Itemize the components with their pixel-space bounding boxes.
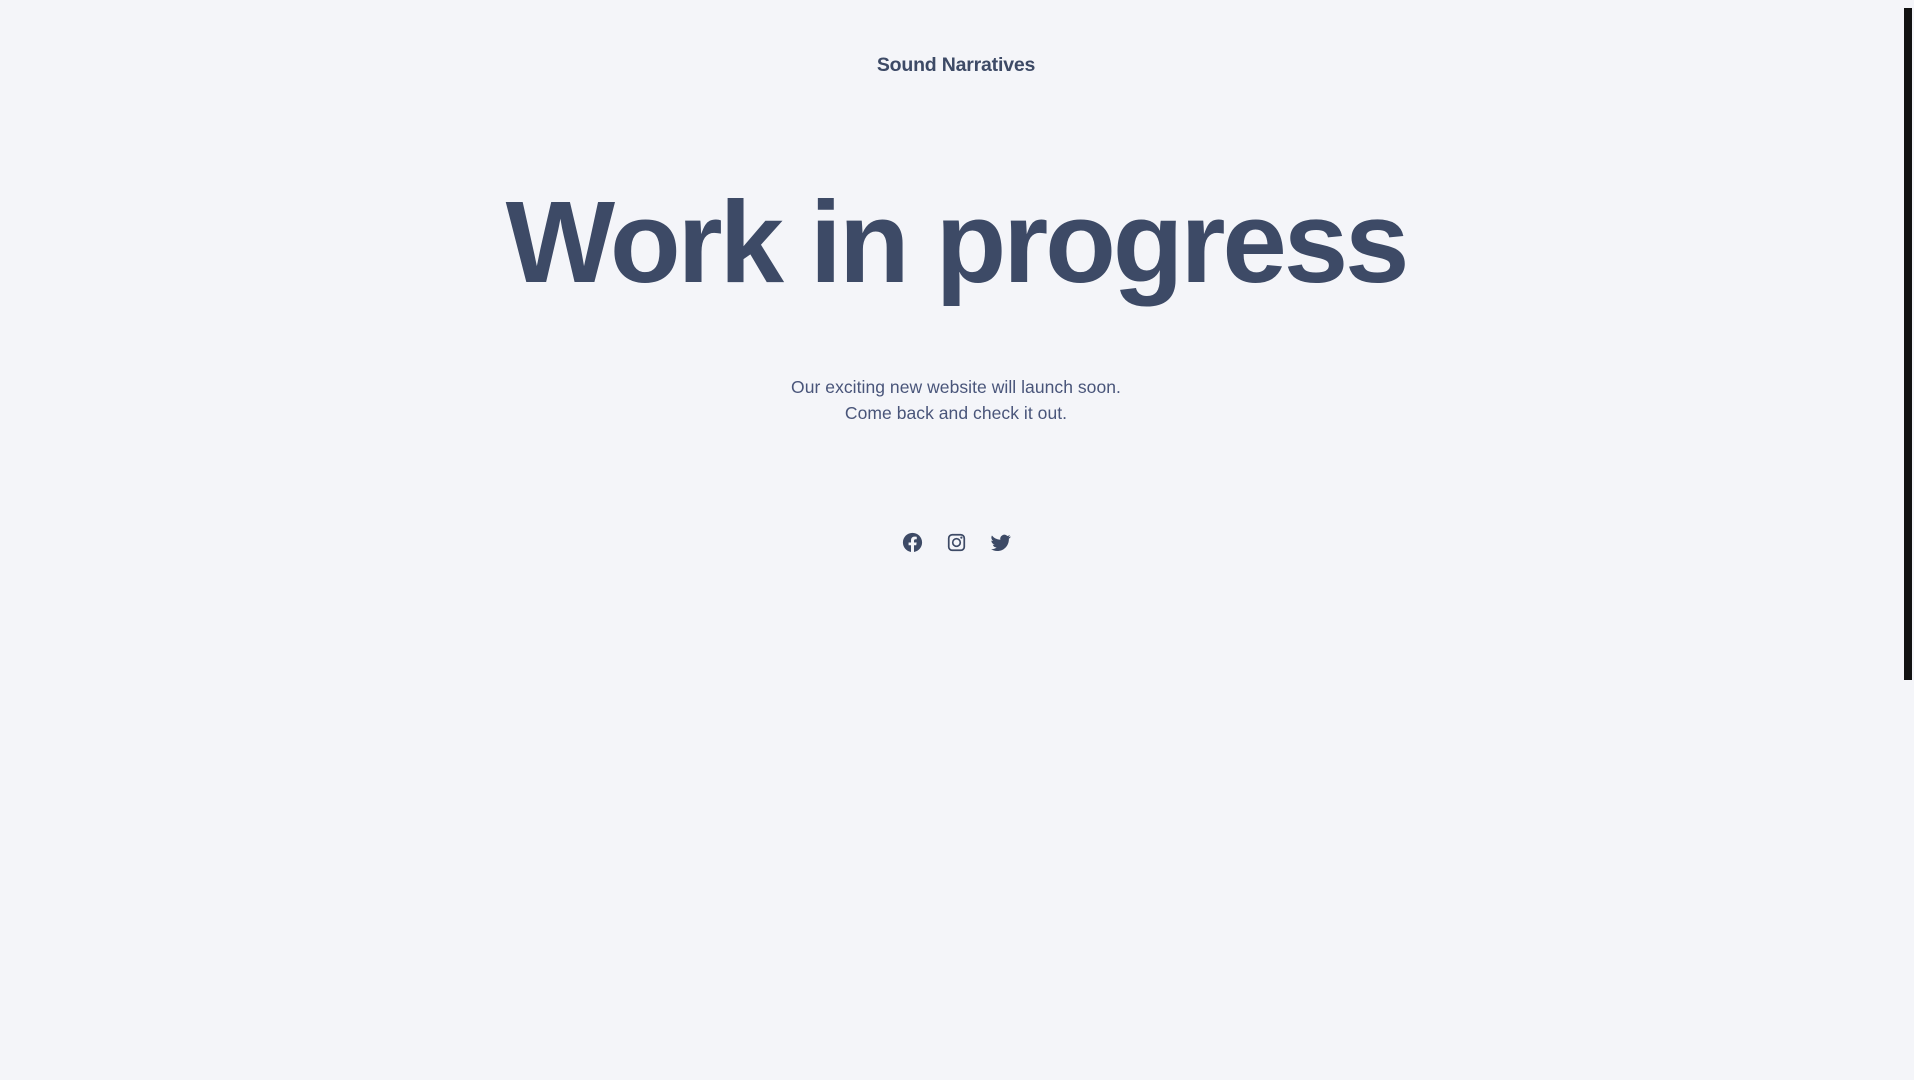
- page-content: Sound Narratives Work in progress Our ex…: [0, 0, 1912, 556]
- tagline: Our exciting new website will launch soo…: [0, 306, 1912, 427]
- tagline-line-2: Come back and check it out.: [0, 400, 1912, 427]
- page-title: Work in progress: [0, 78, 1912, 305]
- scrollbar-thumb[interactable]: [1904, 8, 1912, 680]
- site-name: Sound Narratives: [0, 0, 1912, 78]
- tagline-line-1: Our exciting new website will launch soo…: [0, 374, 1912, 401]
- social-link-twitter[interactable]: [987, 530, 1013, 556]
- twitter-icon: [989, 531, 1012, 554]
- instagram-icon: [945, 531, 968, 554]
- social-link-instagram[interactable]: [943, 530, 969, 556]
- browser-viewport: Sound Narratives Work in progress Our ex…: [0, 0, 1920, 1080]
- social-link-facebook[interactable]: [899, 530, 925, 556]
- facebook-icon: [901, 531, 924, 554]
- social-links: [0, 427, 1912, 556]
- coming-soon-page: Sound Narratives Work in progress Our ex…: [0, 0, 1912, 1080]
